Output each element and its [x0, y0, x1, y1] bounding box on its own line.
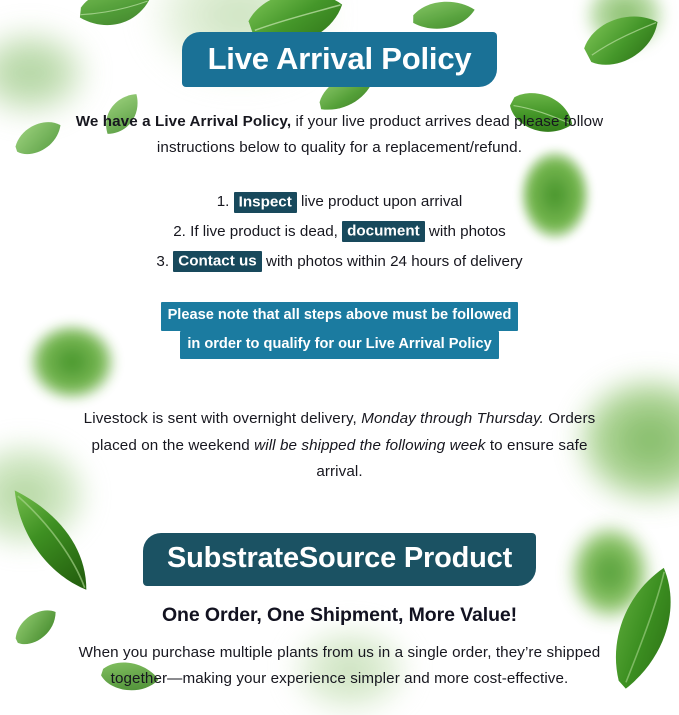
substrate-source-body: When you purchase multiple plants from u…	[40, 640, 639, 692]
step-highlight-document: document	[342, 221, 425, 242]
step-number: 1.	[217, 193, 230, 210]
step-number: 2.	[173, 223, 186, 240]
policy-step-2: 2. If live product is dead, document wit…	[40, 217, 639, 247]
ship-italic-1: Monday through Thursday.	[361, 410, 544, 427]
step-highlight-inspect: Inspect	[234, 192, 297, 213]
policy-step-3: 3. Contact us with photos within 24 hour…	[40, 247, 639, 277]
policy-note-block: Please note that all steps above must be…	[40, 302, 639, 359]
note-line-1: Please note that all steps above must be…	[161, 302, 519, 331]
live-arrival-policy-banner: Live Arrival Policy	[182, 32, 498, 87]
step-post-text: with photos within 24 hours of delivery	[262, 253, 523, 270]
ship-italic-2: will be shipped the following week	[254, 437, 485, 454]
policy-step-1: 1. Inspect live product upon arrival	[40, 187, 639, 217]
note-line-wrapper: in order to qualify for our Live Arrival…	[40, 331, 639, 360]
ship-part-1: Livestock is sent with overnight deliver…	[84, 410, 362, 427]
substrate-source-banner-row: SubstrateSource Product	[40, 533, 639, 586]
shipping-schedule-paragraph: Livestock is sent with overnight deliver…	[40, 406, 639, 484]
policy-page: Live Arrival Policy We have a Live Arriv…	[0, 0, 679, 679]
substrate-source-tagline: One Order, One Shipment, More Value!	[40, 604, 639, 627]
step-post-text: with photos	[425, 223, 506, 240]
intro-bold-lead: We have a Live Arrival Policy,	[76, 113, 291, 130]
step-post-text: live product upon arrival	[297, 193, 462, 210]
note-line-2: in order to qualify for our Live Arrival…	[180, 331, 498, 360]
note-line-wrapper: Please note that all steps above must be…	[40, 302, 639, 331]
step-highlight-contact-us: Contact us	[173, 251, 261, 272]
live-arrival-banner-row: Live Arrival Policy	[40, 0, 639, 87]
step-pre-text: If live product is dead,	[190, 223, 342, 240]
substrate-source-product-banner: SubstrateSource Product	[143, 533, 536, 586]
policy-steps-list: 1. Inspect live product upon arrival 2. …	[40, 187, 639, 276]
step-number: 3.	[156, 253, 169, 270]
intro-paragraph: We have a Live Arrival Policy, if your l…	[40, 109, 639, 161]
